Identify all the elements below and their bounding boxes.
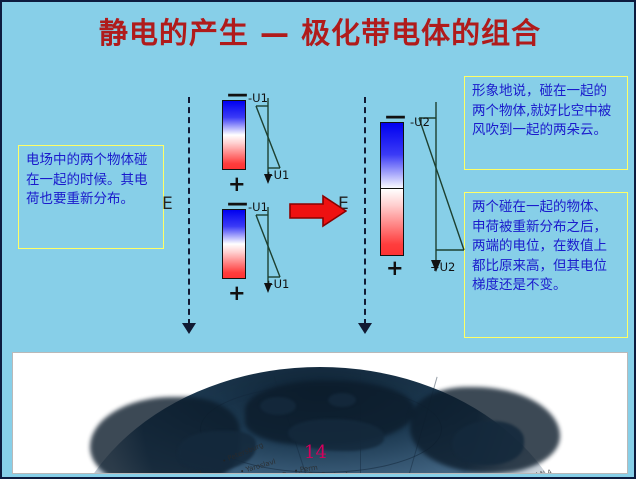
efield-arrow-head	[358, 323, 372, 334]
bar3-top-voltage-label: -U2	[410, 115, 430, 129]
efield-arrow-head	[182, 323, 196, 334]
efield-arrow-right	[358, 97, 372, 325]
efield-arrow-left	[182, 97, 196, 325]
charged-bar-merged	[380, 122, 404, 256]
charged-bar-2	[222, 209, 246, 279]
merged-bar-divider	[380, 188, 404, 189]
efield-label-left: E	[162, 194, 173, 214]
bar3-plus-sign: +	[386, 258, 404, 279]
page-title: 静电的产生 — 极化带电体的组合	[2, 10, 636, 52]
callout-bottom-right: 两个碰在一起的物体、申荷被重新分布之后，两端的电位，在数值上都比原来高，但其电位…	[464, 192, 628, 338]
bar1-bottom-voltage-label: +U1	[264, 168, 289, 182]
callout-bottom-right-text: 两个碰在一起的物体、申荷被重新分布之后，两端的电位，在数值上都比原来高，但其电位…	[472, 199, 607, 293]
callout-left: 电场中的两个物体碰在一起的时候。其电荷也要重新分布。	[18, 145, 164, 249]
landmass-island-2	[328, 393, 356, 407]
bar3-bottom-voltage-label: +U2	[430, 260, 455, 274]
landmass-island	[260, 397, 296, 415]
callout-top-right-text: 形象地说，碰在一起的两个物体,就好比空中被风吹到一起的两朵云。	[472, 83, 611, 138]
bar2-plus-sign: +	[228, 283, 246, 304]
charged-bar-1	[222, 100, 246, 170]
bar1-top-voltage-label: -U1	[248, 91, 268, 105]
landmass-chukotka	[452, 421, 524, 465]
page-number: 14	[304, 442, 327, 463]
bar2-top-voltage-label: -U1	[248, 200, 268, 214]
efield-arrow-shaft	[188, 97, 190, 325]
transition-arrow-icon	[289, 194, 347, 228]
bar2-bottom-voltage-label: +U1	[264, 277, 289, 291]
transition-arrow-svg	[289, 194, 347, 228]
callout-top-right: 形象地说，碰在一起的两个物体,就好比空中被风吹到一起的两朵云。	[464, 76, 628, 170]
efield-arrow-shaft	[364, 97, 366, 325]
country-label-china: CHINA	[522, 468, 555, 474]
callout-left-text: 电场中的两个物体碰在一起的时候。其电荷也要重新分布。	[26, 152, 148, 207]
slide-canvas: 静电的产生 — 极化带电体的组合 电场中的两个物体碰在一起的时候。其电荷也要重新…	[0, 0, 636, 479]
